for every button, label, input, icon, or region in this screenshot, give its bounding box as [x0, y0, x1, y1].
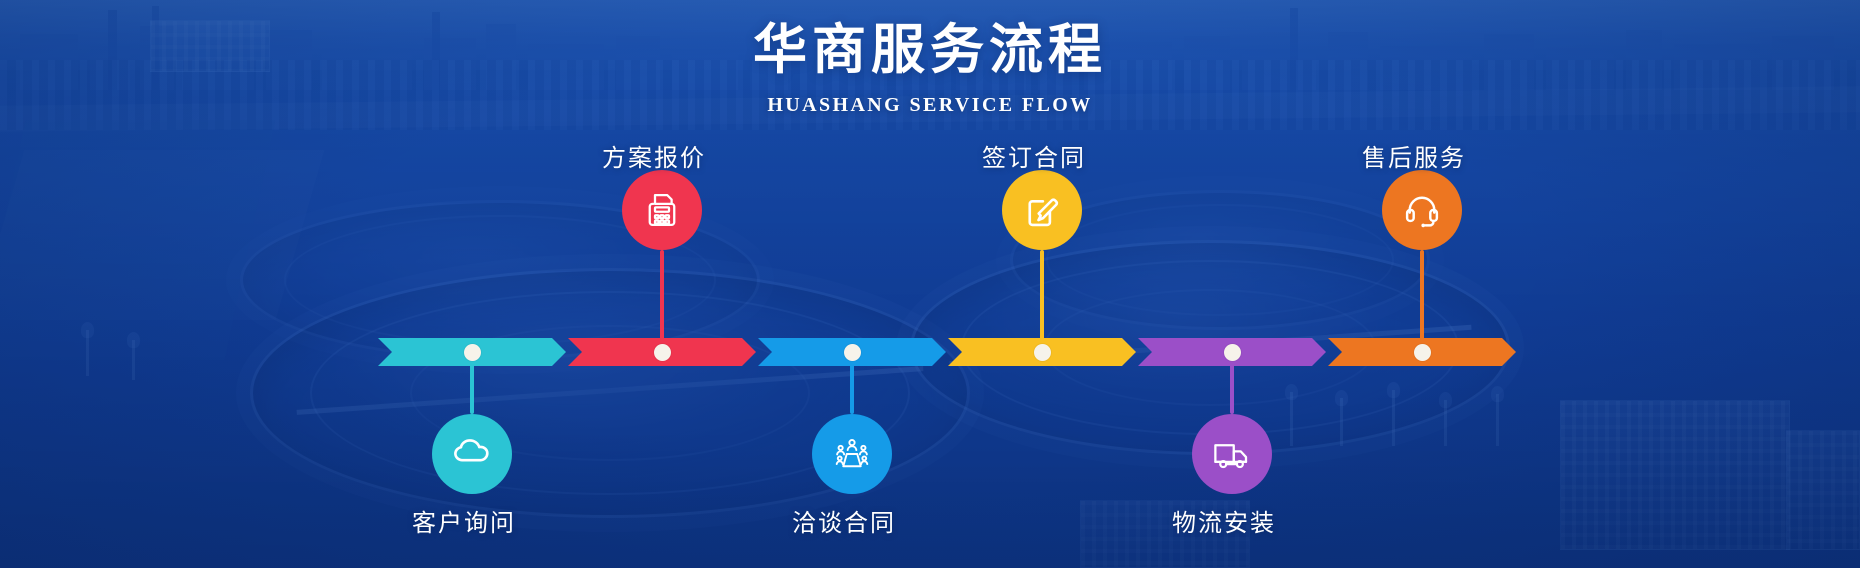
flow-segment-1[interactable]: [378, 338, 566, 366]
flow-node-dot: [1224, 344, 1241, 361]
service-flow-diagram: 客户询问 方案报价: [0, 120, 1860, 560]
stem-step-4: [1040, 250, 1044, 352]
flow-arrow-bar: [378, 338, 1518, 366]
stem-step-6: [1420, 250, 1424, 352]
flow-step-2-label: 方案报价: [602, 138, 706, 173]
meeting-table-icon: [831, 433, 873, 475]
flow-step-2-icon-bubble[interactable]: [622, 170, 702, 250]
flow-node-dot: [1034, 344, 1051, 361]
calculator-icon: [641, 189, 683, 231]
flow-step-5-label: 物流安装: [1172, 503, 1276, 538]
flow-step-3-label: 洽谈合同: [792, 503, 896, 538]
flow-node-dot: [1414, 344, 1431, 361]
flow-node-dot: [844, 344, 861, 361]
flow-segment-5[interactable]: [1138, 338, 1326, 366]
stem-step-2: [660, 250, 664, 352]
flow-node-dot: [654, 344, 671, 361]
flow-step-4-label: 签订合同: [982, 138, 1086, 173]
delivery-truck-icon: [1211, 433, 1253, 475]
speech-bubble-icon: [451, 433, 493, 475]
flow-step-4-icon-bubble[interactable]: [1002, 170, 1082, 250]
flow-step-3-icon-bubble[interactable]: [812, 414, 892, 494]
service-flow-banner: 华商服务流程 HUASHANG SERVICE FLOW: [0, 0, 1860, 568]
flow-segment-4[interactable]: [948, 338, 1136, 366]
page-title: 华商服务流程: [0, 18, 1860, 82]
flow-step-5-icon-bubble[interactable]: [1192, 414, 1272, 494]
flow-step-6-icon-bubble[interactable]: [1382, 170, 1462, 250]
flow-step-1-label: 客户询问: [412, 503, 516, 538]
flow-step-6-label: 售后服务: [1362, 138, 1466, 173]
banner-heading-block: 华商服务流程 HUASHANG SERVICE FLOW: [0, 18, 1860, 117]
flow-segment-3[interactable]: [758, 338, 946, 366]
headset-icon: [1401, 189, 1443, 231]
flow-node-dot: [464, 344, 481, 361]
page-subtitle: HUASHANG SERVICE FLOW: [0, 94, 1860, 117]
flow-segment-2[interactable]: [568, 338, 756, 366]
flow-segment-6[interactable]: [1328, 338, 1516, 366]
flow-step-1-icon-bubble[interactable]: [432, 414, 512, 494]
sign-document-icon: [1021, 189, 1063, 231]
